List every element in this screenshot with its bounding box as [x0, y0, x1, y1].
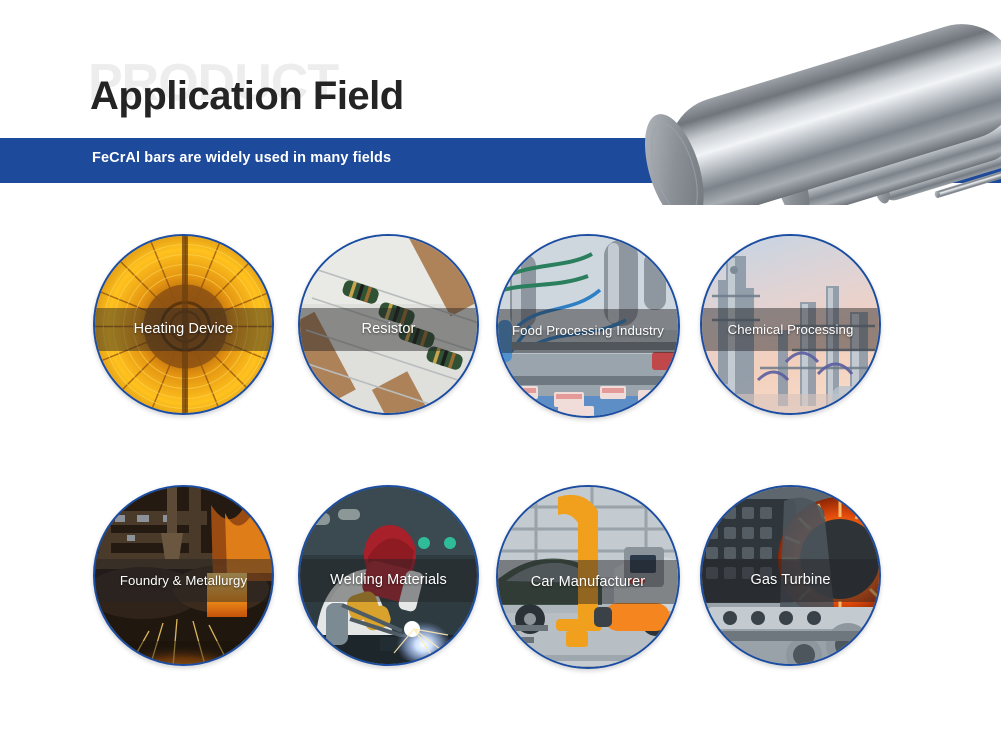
- tile-circle: Heating Device: [93, 234, 274, 415]
- tile-label-band: Food Processing Industry: [496, 309, 680, 353]
- tile-label: Food Processing Industry: [508, 323, 668, 338]
- tile-circle: Car Manufacturer: [496, 485, 680, 669]
- tile-circle: Resistor: [298, 234, 479, 415]
- tile-heating-device[interactable]: Heating Device: [93, 234, 274, 415]
- tile-chemical-processing[interactable]: Chemical Processing: [700, 234, 881, 415]
- tile-circle: Welding Materials: [298, 485, 479, 666]
- tile-label-band: Welding Materials: [298, 559, 479, 602]
- tile-food-processing-industry[interactable]: Food Processing Industry: [496, 234, 680, 418]
- tile-label: Heating Device: [130, 321, 238, 337]
- tile-label: Gas Turbine: [746, 572, 834, 588]
- tile-label-band: Gas Turbine: [700, 559, 881, 602]
- tile-circle: Foundry & Metallurgy: [93, 485, 274, 666]
- tile-foundry-metallurgy[interactable]: Foundry & Metallurgy: [93, 485, 274, 666]
- tile-circle: Chemical Processing: [700, 234, 881, 415]
- tile-label-band: Resistor: [298, 308, 479, 351]
- tile-gas-turbine[interactable]: Gas Turbine: [700, 485, 881, 666]
- tile-car-manufacturer[interactable]: Car Manufacturer: [496, 485, 680, 669]
- tile-label: Foundry & Metallurgy: [116, 573, 251, 588]
- tile-label-band: Car Manufacturer: [496, 560, 680, 604]
- tile-label-band: Heating Device: [93, 308, 274, 351]
- tile-resistor[interactable]: Resistor: [298, 234, 479, 415]
- tile-label: Car Manufacturer: [527, 574, 649, 590]
- tile-label: Resistor: [358, 321, 420, 337]
- tile-circle: Gas Turbine: [700, 485, 881, 666]
- tile-label-band: Foundry & Metallurgy: [93, 559, 274, 602]
- tile-label-band: Chemical Processing: [700, 308, 881, 351]
- tile-circle: Food Processing Industry: [496, 234, 680, 418]
- tile-label: Welding Materials: [326, 572, 451, 588]
- tile-welding-materials[interactable]: Welding Materials: [298, 485, 479, 666]
- tile-label: Chemical Processing: [724, 322, 858, 337]
- application-field-grid: Heating Device: [0, 0, 1001, 737]
